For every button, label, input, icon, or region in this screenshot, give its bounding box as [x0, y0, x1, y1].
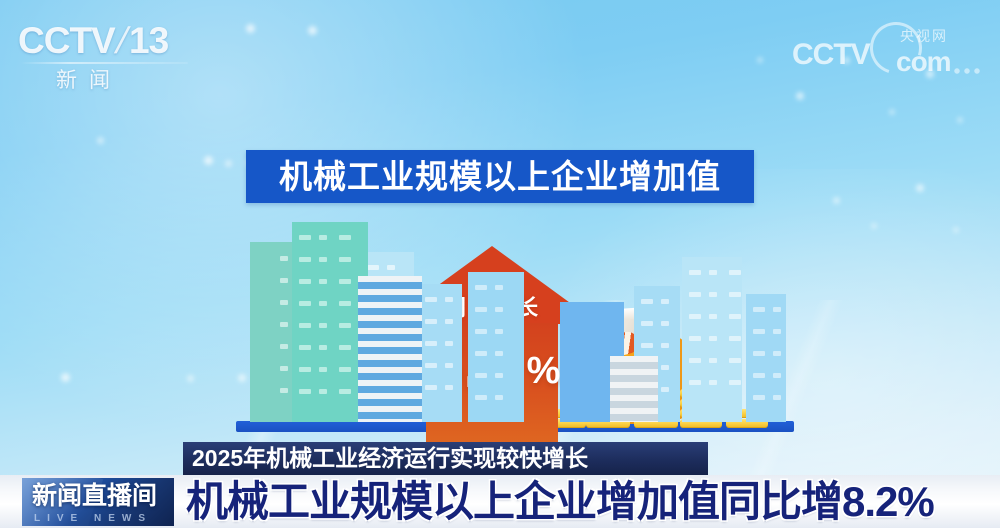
window: [319, 367, 327, 372]
window: [689, 358, 701, 363]
window: [299, 301, 311, 306]
window: [661, 365, 669, 370]
building-windows: [418, 284, 462, 422]
window: [280, 344, 288, 349]
live-program-badge: 新闻直播间 LIVE NEWS: [22, 478, 174, 526]
window: [641, 321, 653, 326]
building: [682, 257, 742, 422]
window: [299, 367, 311, 372]
window: [661, 387, 669, 392]
window: [299, 323, 311, 328]
watermark-chinese-text: 央视网: [900, 26, 948, 46]
building: [418, 284, 462, 422]
window: [339, 301, 351, 306]
window: [773, 395, 781, 400]
window: [387, 265, 395, 270]
window: [729, 270, 741, 275]
logo-channel-number: 13: [129, 20, 168, 61]
window: [729, 314, 741, 319]
window: [280, 388, 288, 393]
building-windows: [358, 276, 422, 422]
window: [753, 329, 765, 334]
window: [425, 341, 437, 346]
window: [339, 257, 351, 262]
logo-main-row: CCTV/13: [18, 22, 194, 59]
window: [280, 256, 288, 261]
window: [319, 389, 327, 394]
window: [689, 314, 701, 319]
bokeh-dot: [757, 57, 763, 63]
bokeh-dot: [246, 24, 255, 33]
window: [661, 321, 669, 326]
bokeh-dot: [957, 117, 963, 123]
window: [445, 319, 453, 324]
building: [358, 276, 422, 422]
window: [773, 373, 781, 378]
window: [753, 307, 765, 312]
building-windows: [468, 272, 524, 422]
badge-live-news-text: LIVE NEWS: [34, 513, 152, 524]
window: [425, 319, 437, 324]
window: [773, 351, 781, 356]
watermark-dots-icon: [954, 68, 980, 74]
infographic-title-text: 机械工业规模以上企业增加值: [279, 160, 721, 193]
window: [753, 395, 765, 400]
window: [280, 300, 288, 305]
window: [729, 380, 741, 385]
window: [339, 323, 351, 328]
window: [299, 389, 311, 394]
window: [319, 345, 327, 350]
window: [339, 235, 351, 240]
window: [475, 373, 487, 378]
window: [753, 373, 765, 378]
window: [445, 363, 453, 368]
subtitle-bar: 2025年机械工业经济运行实现较快增长: [183, 442, 708, 475]
building-windows: [746, 294, 786, 422]
badge-program-name: 新闻直播间: [32, 482, 157, 511]
window: [773, 307, 781, 312]
infographic-stage: 机械工业规模以上企业增加值 同比增长 8.2%: [0, 150, 1000, 446]
window: [753, 351, 765, 356]
window: [280, 322, 288, 327]
window: [339, 367, 351, 372]
window: [299, 235, 311, 240]
building: [250, 242, 294, 422]
window: [495, 329, 503, 334]
headline-text: 机械工业规模以上企业增加值同比增8.2%: [186, 481, 934, 523]
broadcast-screenshot: CCTV/13 新闻 CCTV 央视网 com 机械工业规模以上企业增加值: [0, 0, 1000, 528]
window: [280, 366, 288, 371]
window: [367, 265, 379, 270]
window: [709, 292, 717, 297]
window: [773, 329, 781, 334]
window: [495, 373, 503, 378]
window: [475, 285, 487, 290]
window: [280, 278, 288, 283]
window: [729, 336, 741, 341]
window: [495, 395, 503, 400]
building-windows: [610, 356, 658, 422]
window: [689, 336, 701, 341]
building-windows: [250, 242, 294, 422]
logo-cctv-text: CCTV: [18, 20, 115, 61]
building-windows: [292, 222, 368, 422]
bokeh-dot: [97, 137, 104, 144]
building: [746, 294, 786, 422]
window: [339, 389, 351, 394]
cctv-com-watermark: CCTV 央视网 com: [792, 26, 982, 82]
window: [299, 257, 311, 262]
infographic-title-banner: 机械工业规模以上企业增加值: [246, 150, 754, 203]
window: [425, 385, 437, 390]
building: [292, 222, 368, 422]
headline-container: 机械工业规模以上企业增加值同比增8.2%: [186, 477, 998, 526]
window: [475, 351, 487, 356]
building: [468, 272, 524, 422]
window: [709, 314, 717, 319]
window: [299, 345, 311, 350]
lower-third: 2025年机械工业经济运行实现较快增长 机械工业规模以上企业增加值同比增8.2%…: [0, 442, 1000, 528]
logo-channel-name: 新闻: [56, 64, 194, 94]
building: [610, 356, 658, 422]
window: [339, 279, 351, 284]
window: [319, 323, 327, 328]
window: [661, 343, 669, 348]
window: [319, 235, 327, 240]
subtitle-text: 2025年机械工业经济运行实现较快增长: [192, 447, 588, 470]
window: [495, 307, 503, 312]
window: [495, 351, 503, 356]
window: [425, 297, 437, 302]
window: [319, 301, 327, 306]
window: [689, 380, 701, 385]
window: [729, 292, 741, 297]
window: [661, 299, 669, 304]
growth-value-percent: %: [527, 350, 561, 392]
logo-underline: [20, 62, 188, 64]
window: [445, 341, 453, 346]
bokeh-dot: [796, 92, 804, 100]
window: [445, 297, 453, 302]
window: [641, 299, 653, 304]
window: [319, 257, 327, 262]
window: [425, 363, 437, 368]
window: [475, 395, 487, 400]
watermark-com-text: com: [896, 46, 951, 78]
window: [475, 329, 487, 334]
window: [709, 380, 717, 385]
bokeh-dot: [889, 109, 895, 115]
window: [445, 385, 453, 390]
watermark-cctv-text: CCTV: [792, 38, 870, 72]
infographic-scene: 同比增长 8.2%: [230, 208, 800, 446]
bokeh-dot: [308, 26, 317, 35]
window: [495, 285, 503, 290]
window: [319, 279, 327, 284]
channel-logo: CCTV/13 新闻: [18, 22, 194, 94]
window: [709, 358, 717, 363]
window: [729, 358, 741, 363]
window: [475, 307, 487, 312]
window: [641, 343, 653, 348]
building-windows: [682, 257, 742, 422]
window: [689, 292, 701, 297]
window: [709, 336, 717, 341]
window: [689, 270, 701, 275]
window: [299, 279, 311, 284]
window: [339, 345, 351, 350]
window: [709, 270, 717, 275]
